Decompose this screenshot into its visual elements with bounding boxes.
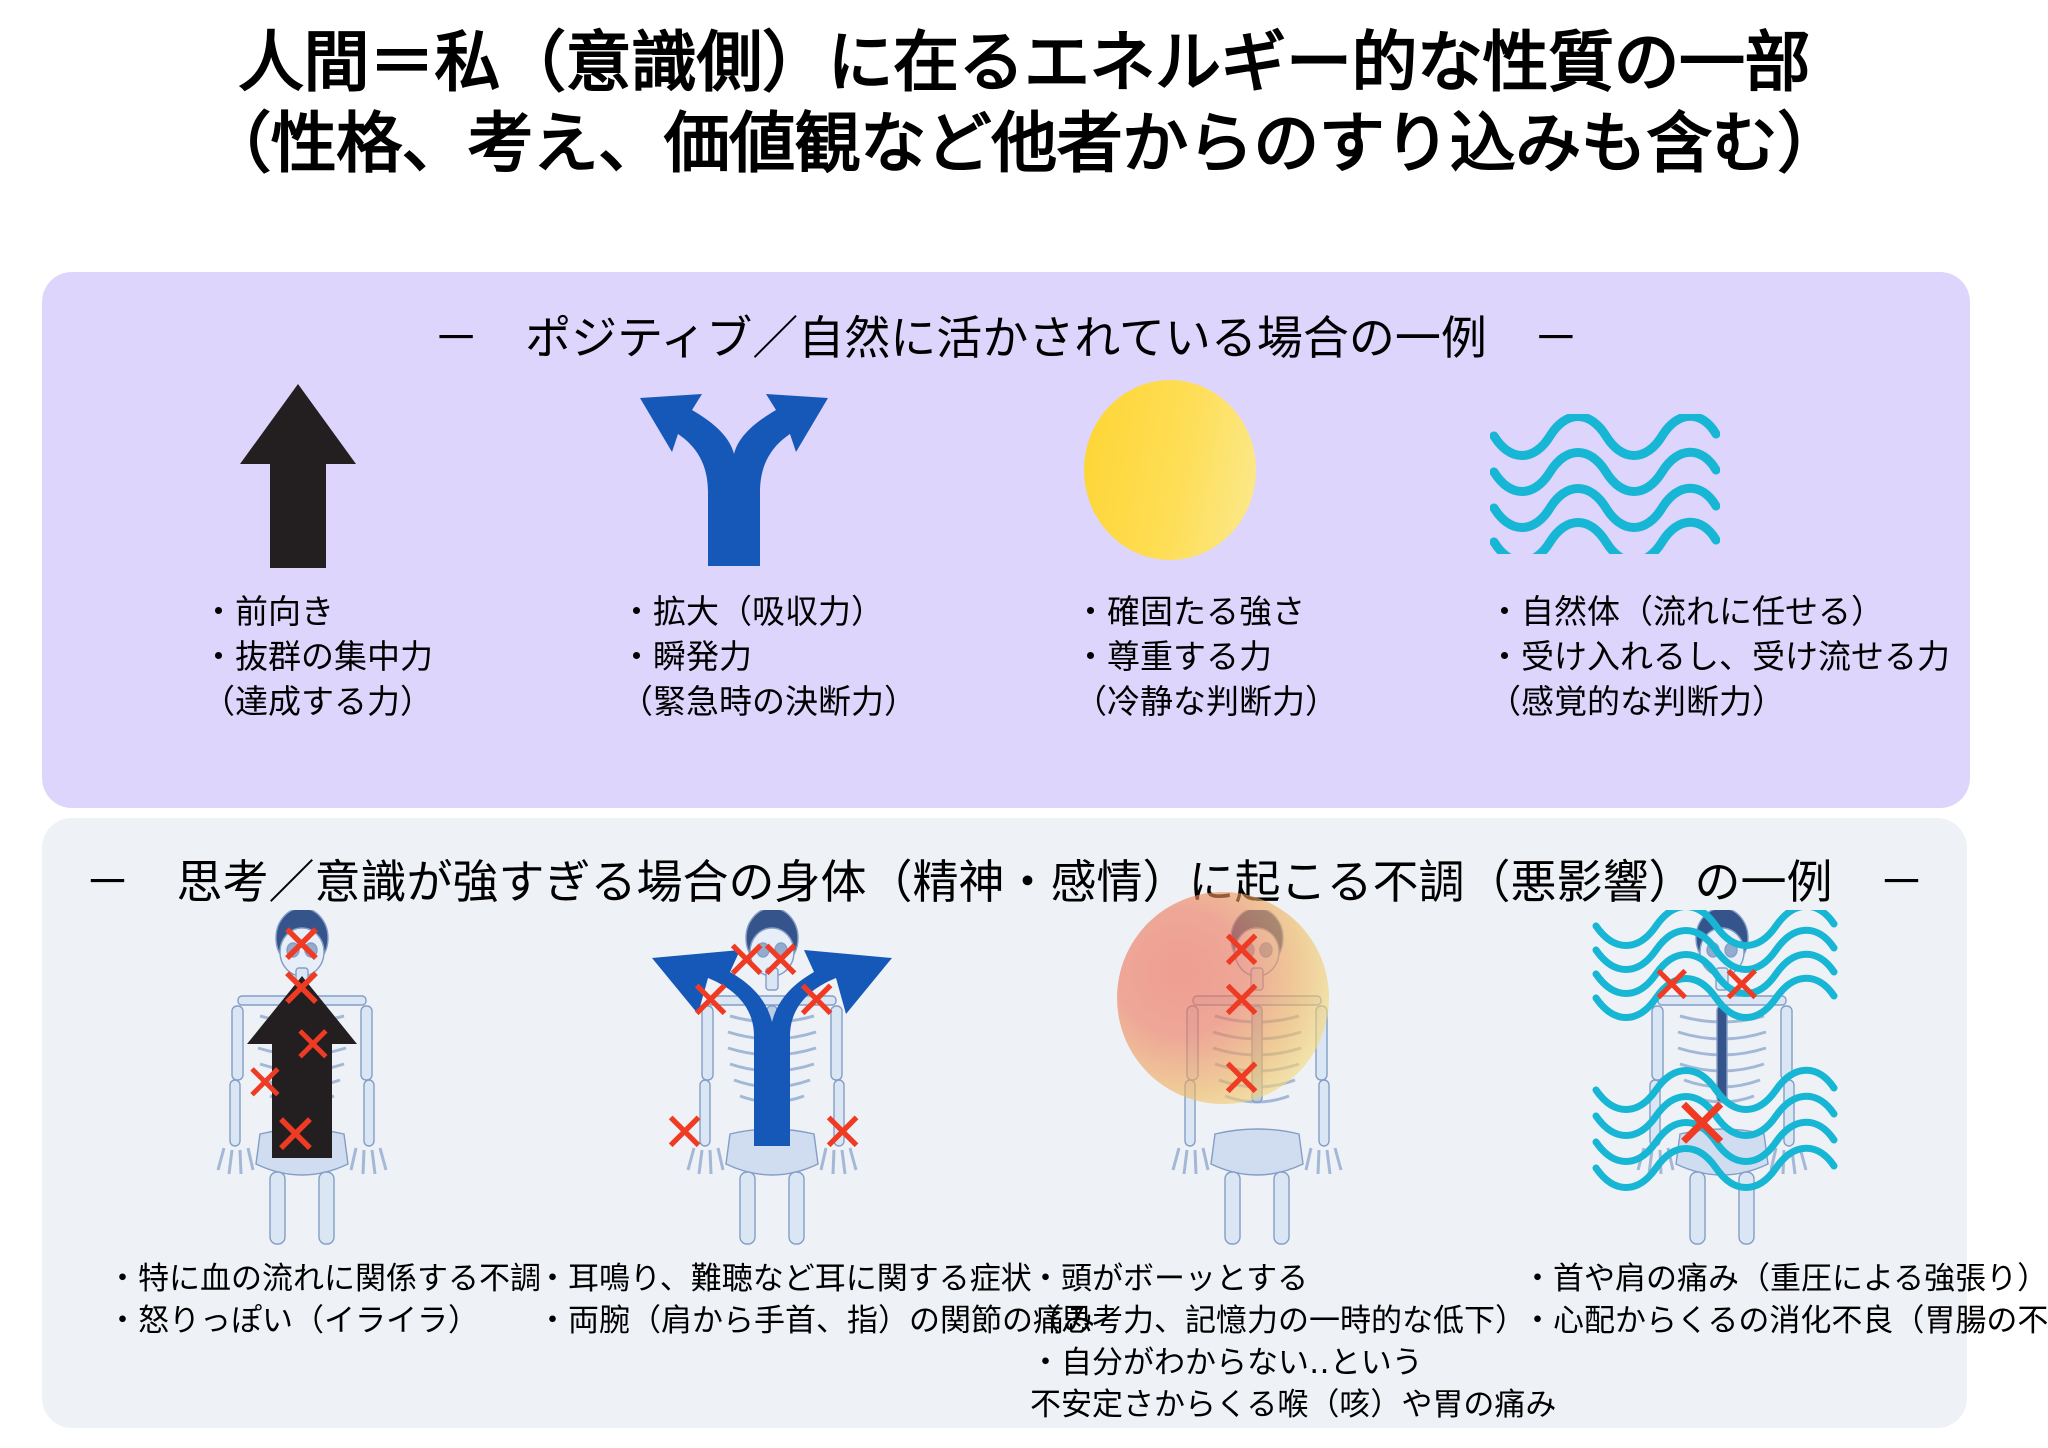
negative-bullets-blood: ・特に血の流れに関係する不調 ・怒りっぽい（イライラ） [107,1258,541,1342]
fork-arrow-icon [602,380,1062,570]
x-mark: ✕ [1672,1088,1732,1160]
negative-bullets-head: ・頭がボーッとする （思考力、記憶力の一時的な低下） ・自分がわからない‥という… [1030,1258,1556,1427]
x-mark: ✕ [794,974,839,1028]
positive-column-strength: ・確固たる強さ ・尊重する力 （冷静な判断力） [1062,272,1482,808]
bullet-line: ・前向き [202,590,433,635]
positive-column-forward: ・前向き ・抜群の集中力 （達成する力） [182,272,602,808]
x-mark: ✕ [278,962,325,1018]
bullet-line: ・抜群の集中力 [202,635,433,680]
waves-icon [1482,380,1952,570]
bullet-line: （感覚的な判断力） [1488,680,1950,725]
negative-column-ears: ✕ ✕ ✕ ✕ ✕ ✕ ・耳鳴り、難聴など耳に関する症状 ・両腕（肩から手首、指… [522,818,1022,1428]
bullet-line: ・自然体（流れに任せる） [1488,590,1950,635]
positive-panel: － ポジティブ／自然に活かされている場合の一例 － ・前向き ・抜群の集中力 （… [42,272,1970,808]
page-title-line-1: 人間＝私（意識側）に在るエネルギー的な性質の一部 [0,22,2048,103]
bullet-line: ・怒りっぽい（イライラ） [107,1300,541,1342]
bullet-line: ・尊重する力 [1074,635,1338,680]
bullet-line: （冷静な判断力） [1074,680,1338,725]
x-mark: ✕ [1720,960,1764,1012]
x-mark: ✕ [1219,1052,1264,1106]
bullet-line: （達成する力） [202,680,433,725]
positive-bullets-strength: ・確固たる強さ ・尊重する力 （冷静な判断力） [1074,590,1338,725]
skeleton-with-waves-figure: ✕ ✕ ✕ [1572,910,1872,1250]
negative-bullets-neck: ・首や肩の痛み（重圧による強張り） ・心配からくるの消化不良（胃腸の不調 [1522,1258,2048,1342]
x-mark: ✕ [820,1106,865,1160]
up-arrow-icon [182,380,602,570]
x-mark: ✕ [244,1058,286,1108]
bullet-line: ・確固たる強さ [1074,590,1338,635]
x-mark: ✕ [272,1108,319,1164]
bullet-line: ・自分がわからない‥という [1030,1342,1556,1384]
bullet-line: ・瞬発力 [620,635,917,680]
bullet-line: ・受け入れるし、受け流せる力 [1488,635,1950,680]
sun-circle-icon [1062,380,1482,570]
bullet-line: ・頭がボーッとする [1030,1258,1556,1300]
negative-column-head: ✕ ✕ ✕ ・頭がボーッとする （思考力、記憶力の一時的な低下） ・自分がわから… [1022,818,1522,1428]
negative-columns: ✕ ✕ ✕ ✕ ✕ ・特に血の流れに関係する不調 ・怒りっぽい（イライラ） [42,818,1967,1428]
negative-column-neck: ✕ ✕ ✕ ・首や肩の痛み（重圧による強張り） ・心配からくるの消化不良（胃腸の… [1512,818,1982,1428]
bullet-line: ・拡大（吸収力） [620,590,917,635]
bullet-line: ・首や肩の痛み（重圧による強張り） [1522,1258,2048,1300]
x-mark: ✕ [1650,960,1694,1012]
skeleton-with-heat-circle-figure: ✕ ✕ ✕ [1107,910,1407,1250]
page-title: 人間＝私（意識側）に在るエネルギー的な性質の一部 （性格、考え、価値観など他者か… [0,22,2048,183]
bullet-line: 不安定さからくる喉（咳）や胃の痛み [1030,1384,1556,1426]
x-mark: ✕ [688,974,733,1028]
skeleton-with-fork-arrow-figure: ✕ ✕ ✕ ✕ ✕ ✕ [622,910,922,1250]
bullet-line: ・特に血の流れに関係する不調 [107,1258,541,1300]
positive-bullets-forward: ・前向き ・抜群の集中力 （達成する力） [202,590,433,725]
positive-columns: ・前向き ・抜群の集中力 （達成する力） ・拡大（吸収力） ・瞬発力 （緊急時の… [42,272,1970,808]
x-mark: ✕ [662,1106,707,1160]
negative-column-blood: ✕ ✕ ✕ ✕ ✕ ・特に血の流れに関係する不調 ・怒りっぽい（イライラ） [62,818,522,1428]
negative-bullets-ears: ・耳鳴り、難聴など耳に関する症状 ・両腕（肩から手首、指）の関節の痛み [537,1258,1095,1342]
positive-column-expansion: ・拡大（吸収力） ・瞬発力 （緊急時の決断力） [602,272,1062,808]
bullet-line: ・耳鳴り、難聴など耳に関する症状 [537,1258,1095,1300]
bullet-line: （緊急時の決断力） [620,680,917,725]
positive-column-natural: ・自然体（流れに任せる） ・受け入れるし、受け流せる力 （感覚的な判断力） [1482,272,1952,808]
bullet-line: （思考力、記憶力の一時的な低下） [1030,1300,1556,1342]
bullet-line: ・両腕（肩から手首、指）の関節の痛み [537,1300,1095,1342]
x-mark: ✕ [1219,974,1264,1028]
page-title-line-2: （性格、考え、価値観など他者からのすり込みも含む） [0,103,2048,184]
bullet-line: ・心配からくるの消化不良（胃腸の不調 [1522,1300,2048,1342]
negative-panel: － 思考／意識が強すぎる場合の身体（精神・感情）に起こる不調（悪影響）の一例 － [42,818,1967,1428]
positive-bullets-natural: ・自然体（流れに任せる） ・受け入れるし、受け流せる力 （感覚的な判断力） [1488,590,1950,725]
x-mark: ✕ [292,1020,334,1070]
skeleton-with-up-arrow-figure: ✕ ✕ ✕ ✕ ✕ [152,910,452,1250]
positive-bullets-expansion: ・拡大（吸収力） ・瞬発力 （緊急時の決断力） [620,590,917,725]
